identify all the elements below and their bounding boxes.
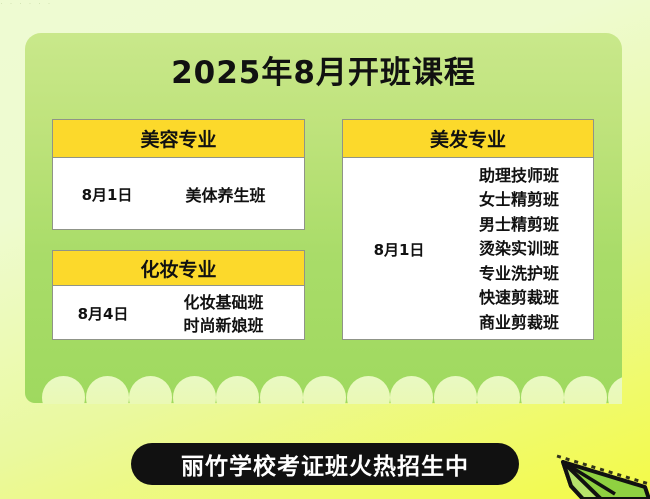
scallop-notch <box>260 376 303 404</box>
course-panel-makeup: 化妆专业 8月4日 化妆基础班 时尚新娘班 <box>52 250 305 340</box>
panel-header-makeup: 化妆专业 <box>53 251 304 286</box>
scallop-notch <box>216 376 259 404</box>
scallop-notch <box>521 376 564 404</box>
scallop-notch <box>608 376 623 404</box>
scallop-notch <box>434 376 477 404</box>
scallop-notch <box>129 376 172 404</box>
panel-header-hair: 美发专业 <box>343 120 593 158</box>
scallop-notch <box>86 376 129 404</box>
start-date-beauty: 8月1日 <box>53 184 161 205</box>
list-item: 美体养生班 <box>161 182 290 206</box>
page-title: 2025年8月开班课程 <box>25 47 622 92</box>
list-item: 商业剪裁班 <box>455 311 583 336</box>
enrollment-banner-text: 丽竹学校考证班火热招生中 <box>181 447 469 481</box>
promo-card: 2025年8月开班课程 美容专业 8月1日 美体养生班 化妆专业 8月4日 化妆… <box>25 33 622 403</box>
list-item: 专业洗护班 <box>455 262 583 287</box>
scallop-notch <box>564 376 607 404</box>
list-item: 女士精剪班 <box>455 188 583 213</box>
list-item: 时尚新娘班 <box>153 314 294 337</box>
scallop-notch <box>390 376 433 404</box>
scallop-notch <box>347 376 390 404</box>
course-panel-hair: 美发专业 8月1日 助理技师班 女士精剪班 男士精剪班 烫染实训班 专业洗护班 … <box>342 119 594 340</box>
scallop-notch <box>173 376 216 404</box>
start-date-makeup: 8月4日 <box>53 303 153 324</box>
enrollment-banner: 丽竹学校考证班火热招生中 <box>131 443 519 485</box>
course-panel-beauty: 美容专业 8月1日 美体养生班 <box>52 119 305 230</box>
panel-body-beauty: 8月1日 美体养生班 <box>53 158 304 230</box>
scallop-notch <box>303 376 346 404</box>
start-date-hair: 8月1日 <box>343 239 455 260</box>
paper-plane-icon <box>553 440 650 499</box>
list-item: 快速剪裁班 <box>455 286 583 311</box>
scallop-notch <box>42 376 85 404</box>
panel-header-beauty: 美容专业 <box>53 120 304 158</box>
list-item: 男士精剪班 <box>455 213 583 238</box>
course-list-hair: 助理技师班 女士精剪班 男士精剪班 烫染实训班 专业洗护班 快速剪裁班 商业剪裁… <box>455 164 593 336</box>
clipped-top-text: · · · · · · <box>0 0 650 7</box>
panel-body-hair: 8月1日 助理技师班 女士精剪班 男士精剪班 烫染实训班 专业洗护班 快速剪裁班… <box>343 158 593 341</box>
list-item: 助理技师班 <box>455 164 583 189</box>
course-list-beauty: 美体养生班 <box>161 182 304 206</box>
scallop-notch <box>477 376 520 404</box>
panel-body-makeup: 8月4日 化妆基础班 时尚新娘班 <box>53 286 304 341</box>
scalloped-bottom-edge <box>25 370 622 404</box>
list-item: 烫染实训班 <box>455 237 583 262</box>
course-list-makeup: 化妆基础班 时尚新娘班 <box>153 291 304 337</box>
list-item: 化妆基础班 <box>153 291 294 314</box>
